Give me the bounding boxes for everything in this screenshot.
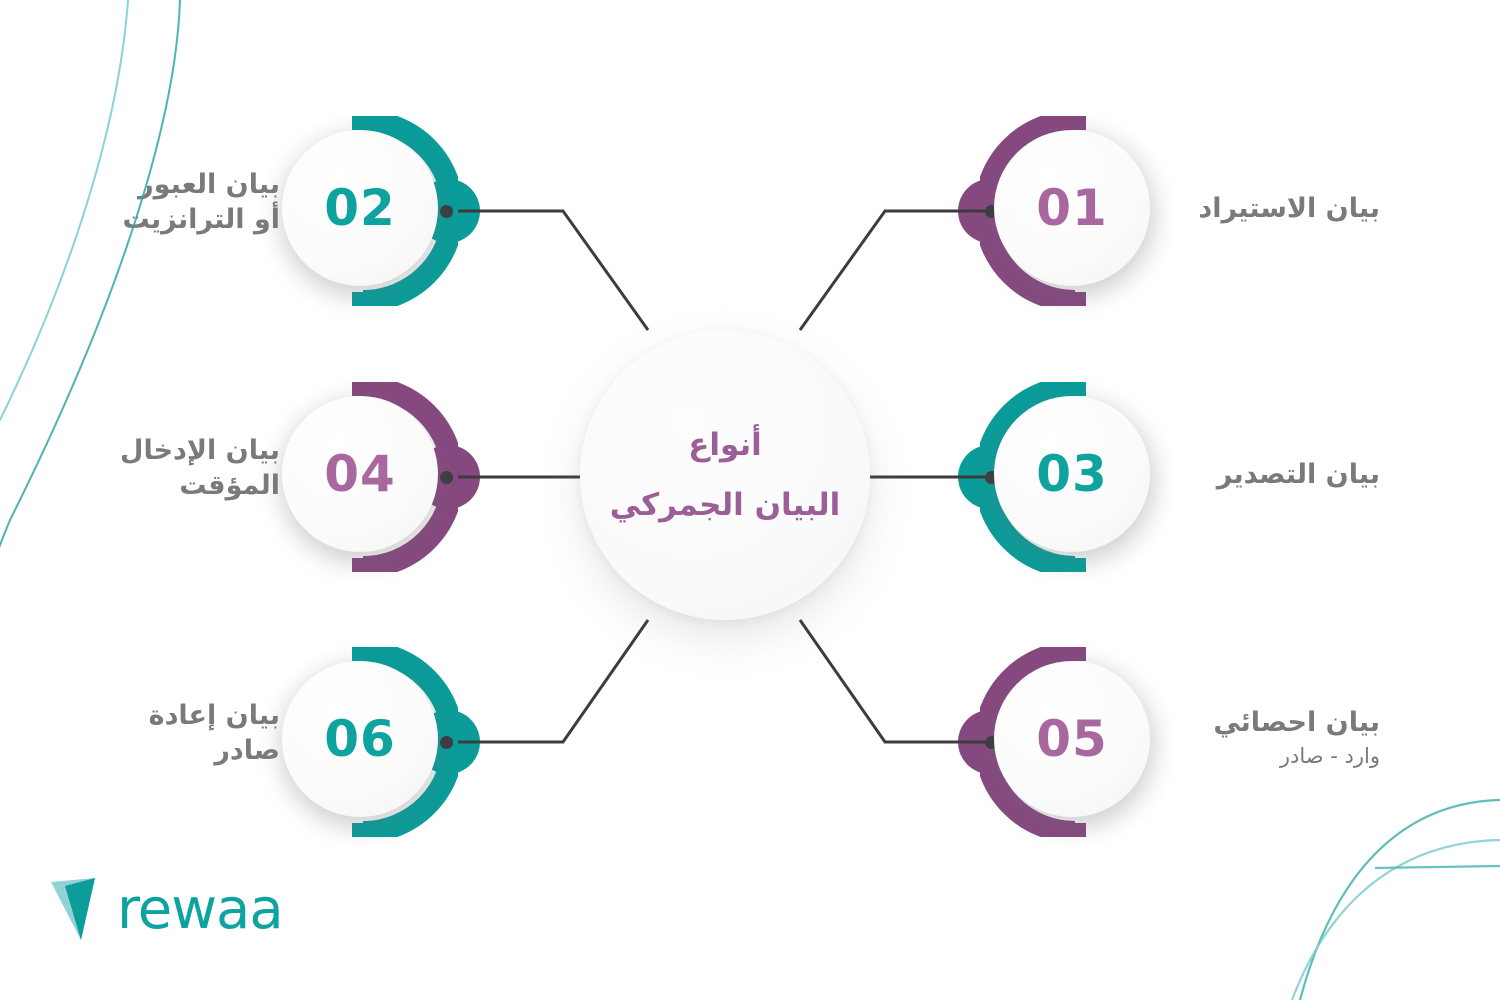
triangle-logo-mark-icon — [45, 874, 107, 946]
center-hub-title-line1: أنواع — [688, 428, 762, 462]
infographic-canvas: أنواع البيان الجمركي 01 بيان الاستيراد 0… — [0, 0, 1500, 1000]
center-hub: أنواع البيان الجمركي — [580, 330, 870, 620]
center-hub-title-line2: البيان الجمركي — [610, 488, 841, 522]
connector-node-05 — [800, 620, 985, 742]
connector-node-02 — [458, 211, 648, 330]
brand-logo-text: rewaa — [117, 882, 283, 938]
brand-logo: rewaa — [45, 872, 325, 947]
connector-node-06 — [458, 620, 648, 742]
connector-node-01 — [800, 211, 985, 330]
